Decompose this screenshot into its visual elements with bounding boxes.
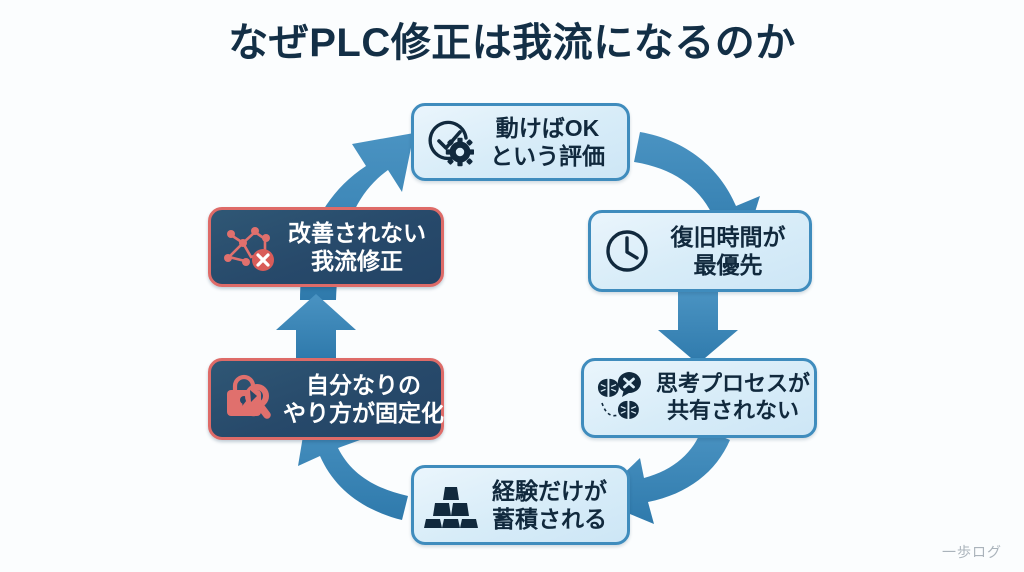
- cycle-node-time[interactable]: 復旧時間が 最優先: [588, 210, 812, 292]
- cycle-node-time-label: 復旧時間が 最優先: [659, 223, 797, 279]
- watermark: 一歩ログ: [942, 542, 1002, 562]
- brains-no-share-icon: [594, 371, 650, 425]
- cycle-node-ok-label: 動けばOK という評価: [480, 114, 615, 170]
- slide-canvas: なぜPLC修正は我流になるのか: [0, 0, 1024, 572]
- stacked-blocks-icon: [424, 481, 478, 529]
- lock-wrench-icon: [221, 371, 277, 427]
- cycle-node-process[interactable]: 思考プロセスが 共有されない: [581, 358, 817, 438]
- cycle-node-noimprove[interactable]: 改善されない 我流修正: [208, 207, 444, 287]
- clock-icon: [601, 225, 653, 277]
- cycle-node-ok[interactable]: 動けばOK という評価: [411, 103, 630, 181]
- arrow-fixed-to-noimprove: [276, 294, 356, 358]
- arrow-time-to-process: [658, 292, 738, 364]
- cycle-node-noimprove-label: 改善されない 我流修正: [285, 219, 429, 275]
- cycle-node-fixed-label: 自分なりの やり方が固定化: [283, 371, 444, 427]
- cycle-node-process-label: 思考プロセスが 共有されない: [656, 371, 810, 425]
- broken-network-x-icon: [221, 219, 279, 275]
- cycle-node-experience-label: 経験だけが 蓄積される: [484, 477, 615, 533]
- cycle-node-experience[interactable]: 経験だけが 蓄積される: [411, 465, 630, 545]
- check-circle-gear-icon: [424, 117, 474, 167]
- cycle-node-fixed[interactable]: 自分なりの やり方が固定化: [208, 358, 444, 440]
